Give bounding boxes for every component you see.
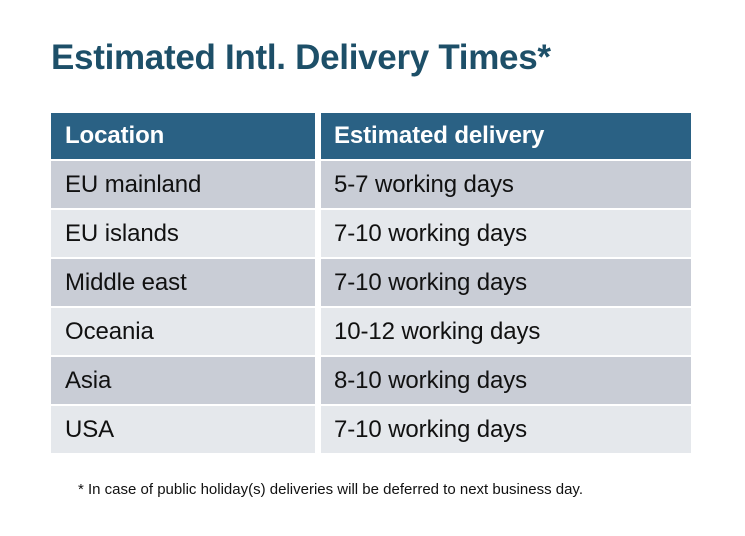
delivery-times-card: Estimated Intl. Delivery Times* Location… [0,0,745,536]
cell-delivery: 10-12 working days [321,308,691,355]
cell-delivery: 7-10 working days [321,210,691,257]
table-header-row: Location Estimated delivery [51,113,691,159]
cell-location: EU mainland [51,161,315,208]
table-row: EU mainland 5-7 working days [51,161,691,208]
cell-delivery: 7-10 working days [321,406,691,453]
cell-location: EU islands [51,210,315,257]
cell-location: Asia [51,357,315,404]
page-title: Estimated Intl. Delivery Times* [51,36,551,80]
cell-location: Middle east [51,259,315,306]
cell-delivery: 5-7 working days [321,161,691,208]
cell-delivery: 8-10 working days [321,357,691,404]
cell-location: Oceania [51,308,315,355]
column-header-location: Location [51,113,315,159]
column-header-estimated-delivery: Estimated delivery [321,113,691,159]
delivery-times-table: Location Estimated delivery EU mainland … [51,113,691,455]
footnote-text: * In case of public holiday(s) deliverie… [78,480,583,500]
table-row: Asia 8-10 working days [51,357,691,404]
table-row: Middle east 7-10 working days [51,259,691,306]
cell-delivery: 7-10 working days [321,259,691,306]
table-row: USA 7-10 working days [51,406,691,453]
cell-location: USA [51,406,315,453]
table-row: EU islands 7-10 working days [51,210,691,257]
table-row: Oceania 10-12 working days [51,308,691,355]
